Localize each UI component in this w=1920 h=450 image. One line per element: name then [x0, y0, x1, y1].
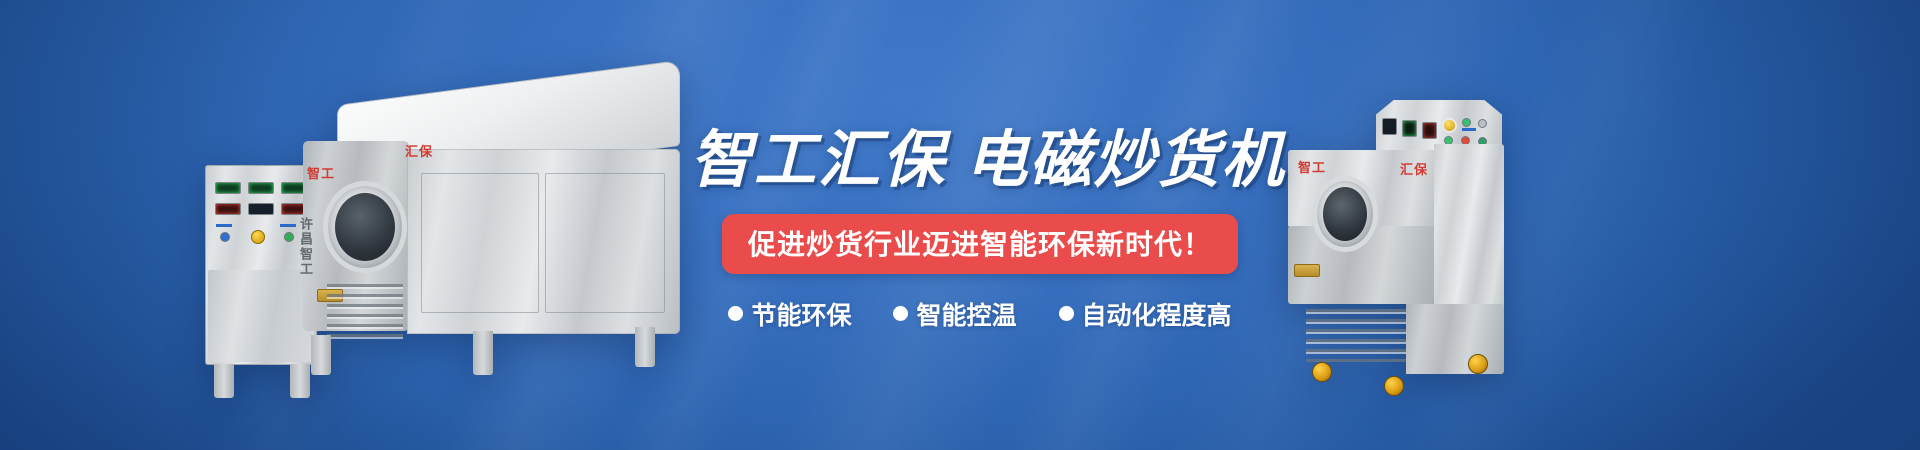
bullet-dot-icon — [1059, 306, 1074, 321]
caster-wheel-front — [1312, 362, 1332, 382]
feature-label: 智能控温 — [916, 296, 1016, 332]
cabinet-door-left-2 — [545, 173, 665, 313]
product-image-large-roaster: 智工 汇保 许昌智工 — [205, 105, 680, 410]
feature-label: 节能环保 — [751, 296, 851, 332]
subtitle-badge: 促进炒货行业迈进智能环保新时代！ — [722, 214, 1238, 274]
brand-mark-huibao-left: 汇保 — [405, 141, 433, 160]
brand-mark-huibao-right: 汇保 — [1400, 159, 1428, 178]
feature-list: 节能环保 智能控温 自动化程度高 — [690, 296, 1270, 332]
caster-wheel-middle — [1384, 376, 1404, 396]
feature-item-automation: 自动化程度高 — [1059, 296, 1232, 332]
spec-plate-right — [1294, 264, 1320, 277]
roaster-drum-right — [1312, 176, 1378, 252]
cabinet-text-left: 许昌智工 — [296, 217, 315, 277]
product-image-compact-roaster: 智工 汇保 — [1280, 100, 1515, 420]
roaster-body-left: 智工 汇保 许昌智工 — [303, 105, 680, 373]
cabinet-door-left-1 — [421, 173, 539, 313]
roaster-side-panel-left: 汇保 — [407, 149, 680, 334]
brand-mark-zhigong-left: 智工 — [307, 163, 335, 182]
feature-label: 自动化程度高 — [1082, 296, 1232, 332]
bullet-dot-icon — [728, 306, 743, 321]
roaster-drum-left — [323, 181, 407, 273]
brand-mark-zhigong-right: 智工 — [1298, 157, 1326, 176]
banner-copy: 智工汇保 电磁炒货机 促进炒货行业迈进智能环保新时代！ 节能环保 智能控温 自动… — [690, 128, 1270, 332]
bullet-dot-icon — [893, 306, 908, 321]
feature-item-energy-saving: 节能环保 — [728, 296, 851, 332]
roaster-lower-right-panel — [1406, 304, 1504, 374]
promo-banner: 智工 汇保 许昌智工 智工汇保 电磁炒货机 促进炒货行业迈进智能环保新时代！ — [0, 0, 1920, 450]
caster-wheel-rear — [1468, 354, 1488, 374]
roaster-side-panel-right — [1434, 144, 1504, 329]
ventilation-grille-right — [1306, 304, 1406, 362]
ventilation-grille-left — [327, 279, 403, 341]
feature-item-smart-temperature: 智能控温 — [893, 296, 1016, 332]
page-title: 智工汇保 电磁炒货机 — [690, 128, 1270, 194]
